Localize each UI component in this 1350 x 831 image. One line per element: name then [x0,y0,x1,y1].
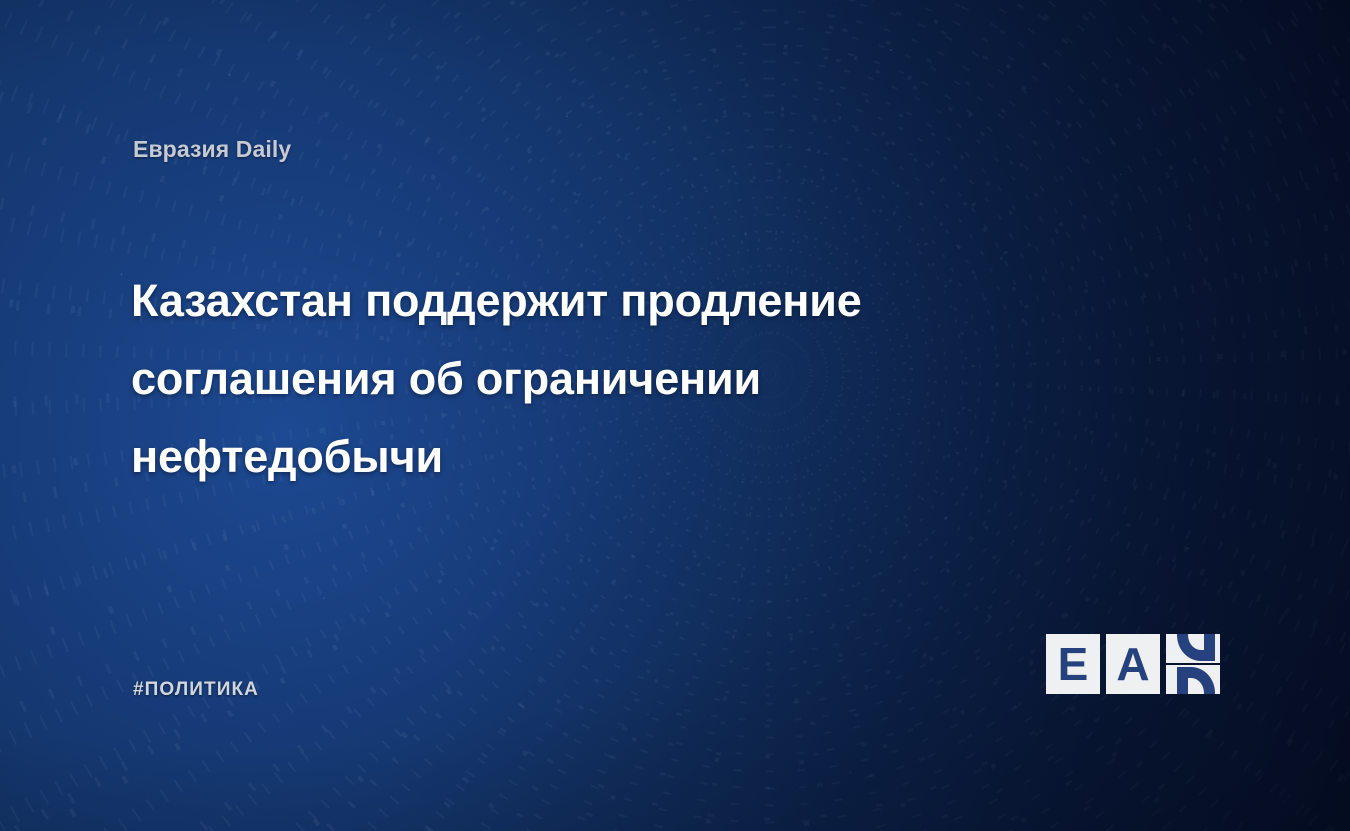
logo-tile-d-bottom-half [1166,665,1220,694]
card-content: Евразия Daily Казахстан поддержит продле… [0,0,1350,831]
logo-letter-a: A [1116,641,1149,687]
category-tag[interactable]: #ПОЛИТИКА [133,679,259,701]
logo-tile-e: E [1046,634,1100,694]
logo-tile-a: A [1106,634,1160,694]
logo-tile-d-top-half [1166,634,1220,663]
logo-d-glyph-icon [1173,665,1219,694]
logo-letter-e: E [1058,641,1089,687]
site-name: Евразия Daily [133,136,291,163]
eadaily-logo[interactable]: E A [1046,634,1220,694]
social-share-card: Евразия Daily Казахстан поддержит продле… [0,0,1350,831]
logo-tile-d [1166,634,1220,694]
logo-d-glyph-rotated-icon [1173,634,1219,663]
page-title: Казахстан поддержит продление соглашения… [131,262,1071,496]
